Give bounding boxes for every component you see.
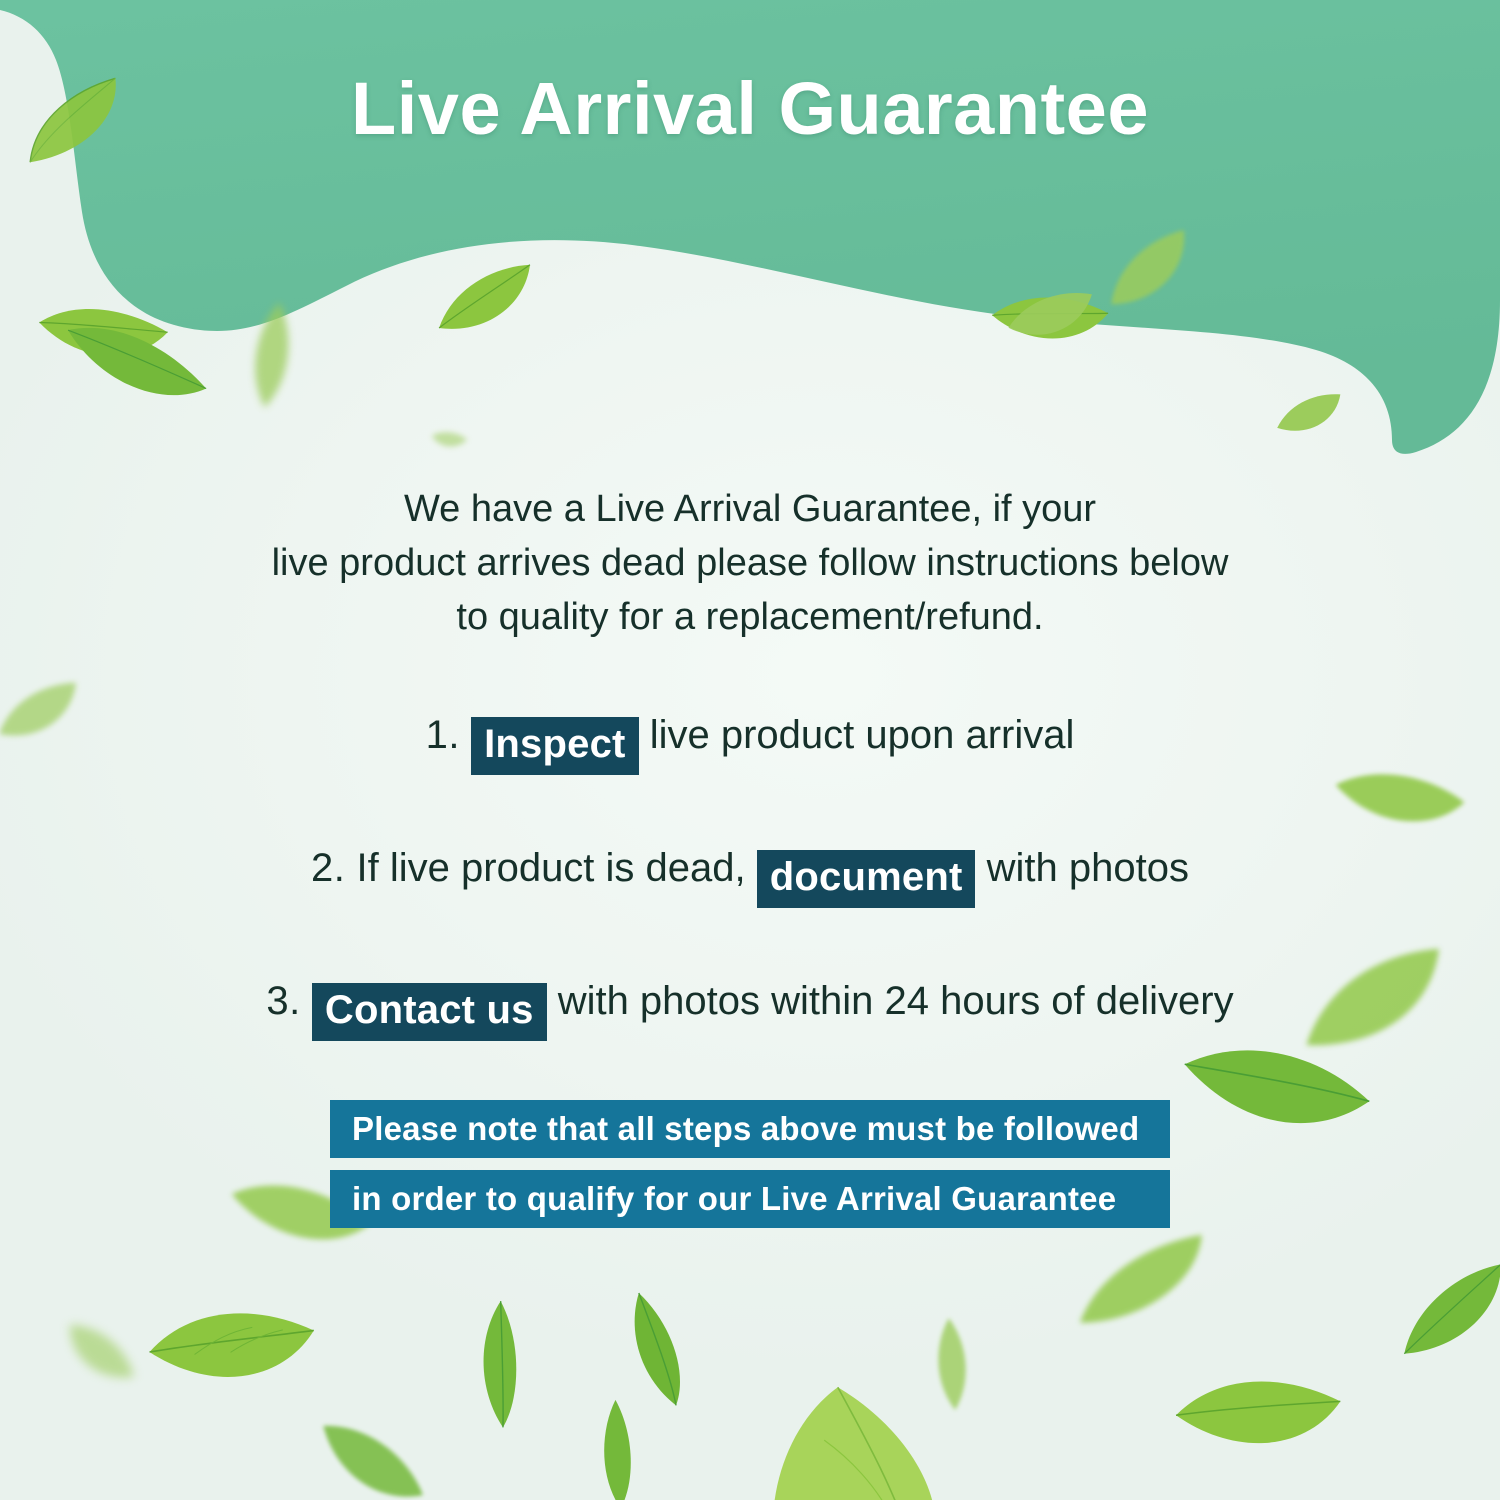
step-text-2-before: If live product is dead, [357, 846, 746, 890]
step-highlight-contact-us[interactable]: Contact us [312, 983, 547, 1041]
live-arrival-guarantee-poster: Live Arrival Guarantee We have a Live Ar… [0, 0, 1500, 1500]
step-item-2: 2. If live product is dead, document wit… [0, 839, 1500, 908]
note-banner-group: Please note that all steps above must be… [0, 1100, 1500, 1240]
step-text-1: live product upon arrival [650, 713, 1075, 757]
steps-list: 1. Inspect live product upon arrival 2. … [0, 706, 1500, 1041]
intro-line-2: live product arrives dead please follow … [0, 536, 1500, 590]
intro-line-1: We have a Live Arrival Guarantee, if you… [0, 482, 1500, 536]
step-number-1: 1. [426, 713, 460, 757]
note-banner-line-1: Please note that all steps above must be… [330, 1100, 1170, 1158]
step-item-1: 1. Inspect live product upon arrival [0, 706, 1500, 775]
step-highlight-inspect[interactable]: Inspect [471, 717, 638, 775]
step-text-3: with photos within 24 hours of delivery [558, 979, 1234, 1023]
step-number-3: 3. [266, 979, 300, 1023]
step-number-2: 2. [311, 846, 345, 890]
intro-paragraph: We have a Live Arrival Guarantee, if you… [0, 482, 1500, 644]
page-title: Live Arrival Guarantee [0, 72, 1500, 146]
step-item-3: 3. Contact us with photos within 24 hour… [0, 972, 1500, 1041]
note-banner-line-2: in order to qualify for our Live Arrival… [330, 1170, 1170, 1228]
step-highlight-document[interactable]: document [757, 850, 976, 908]
intro-line-3: to quality for a replacement/refund. [0, 590, 1500, 644]
step-text-2-after: with photos [987, 846, 1189, 890]
